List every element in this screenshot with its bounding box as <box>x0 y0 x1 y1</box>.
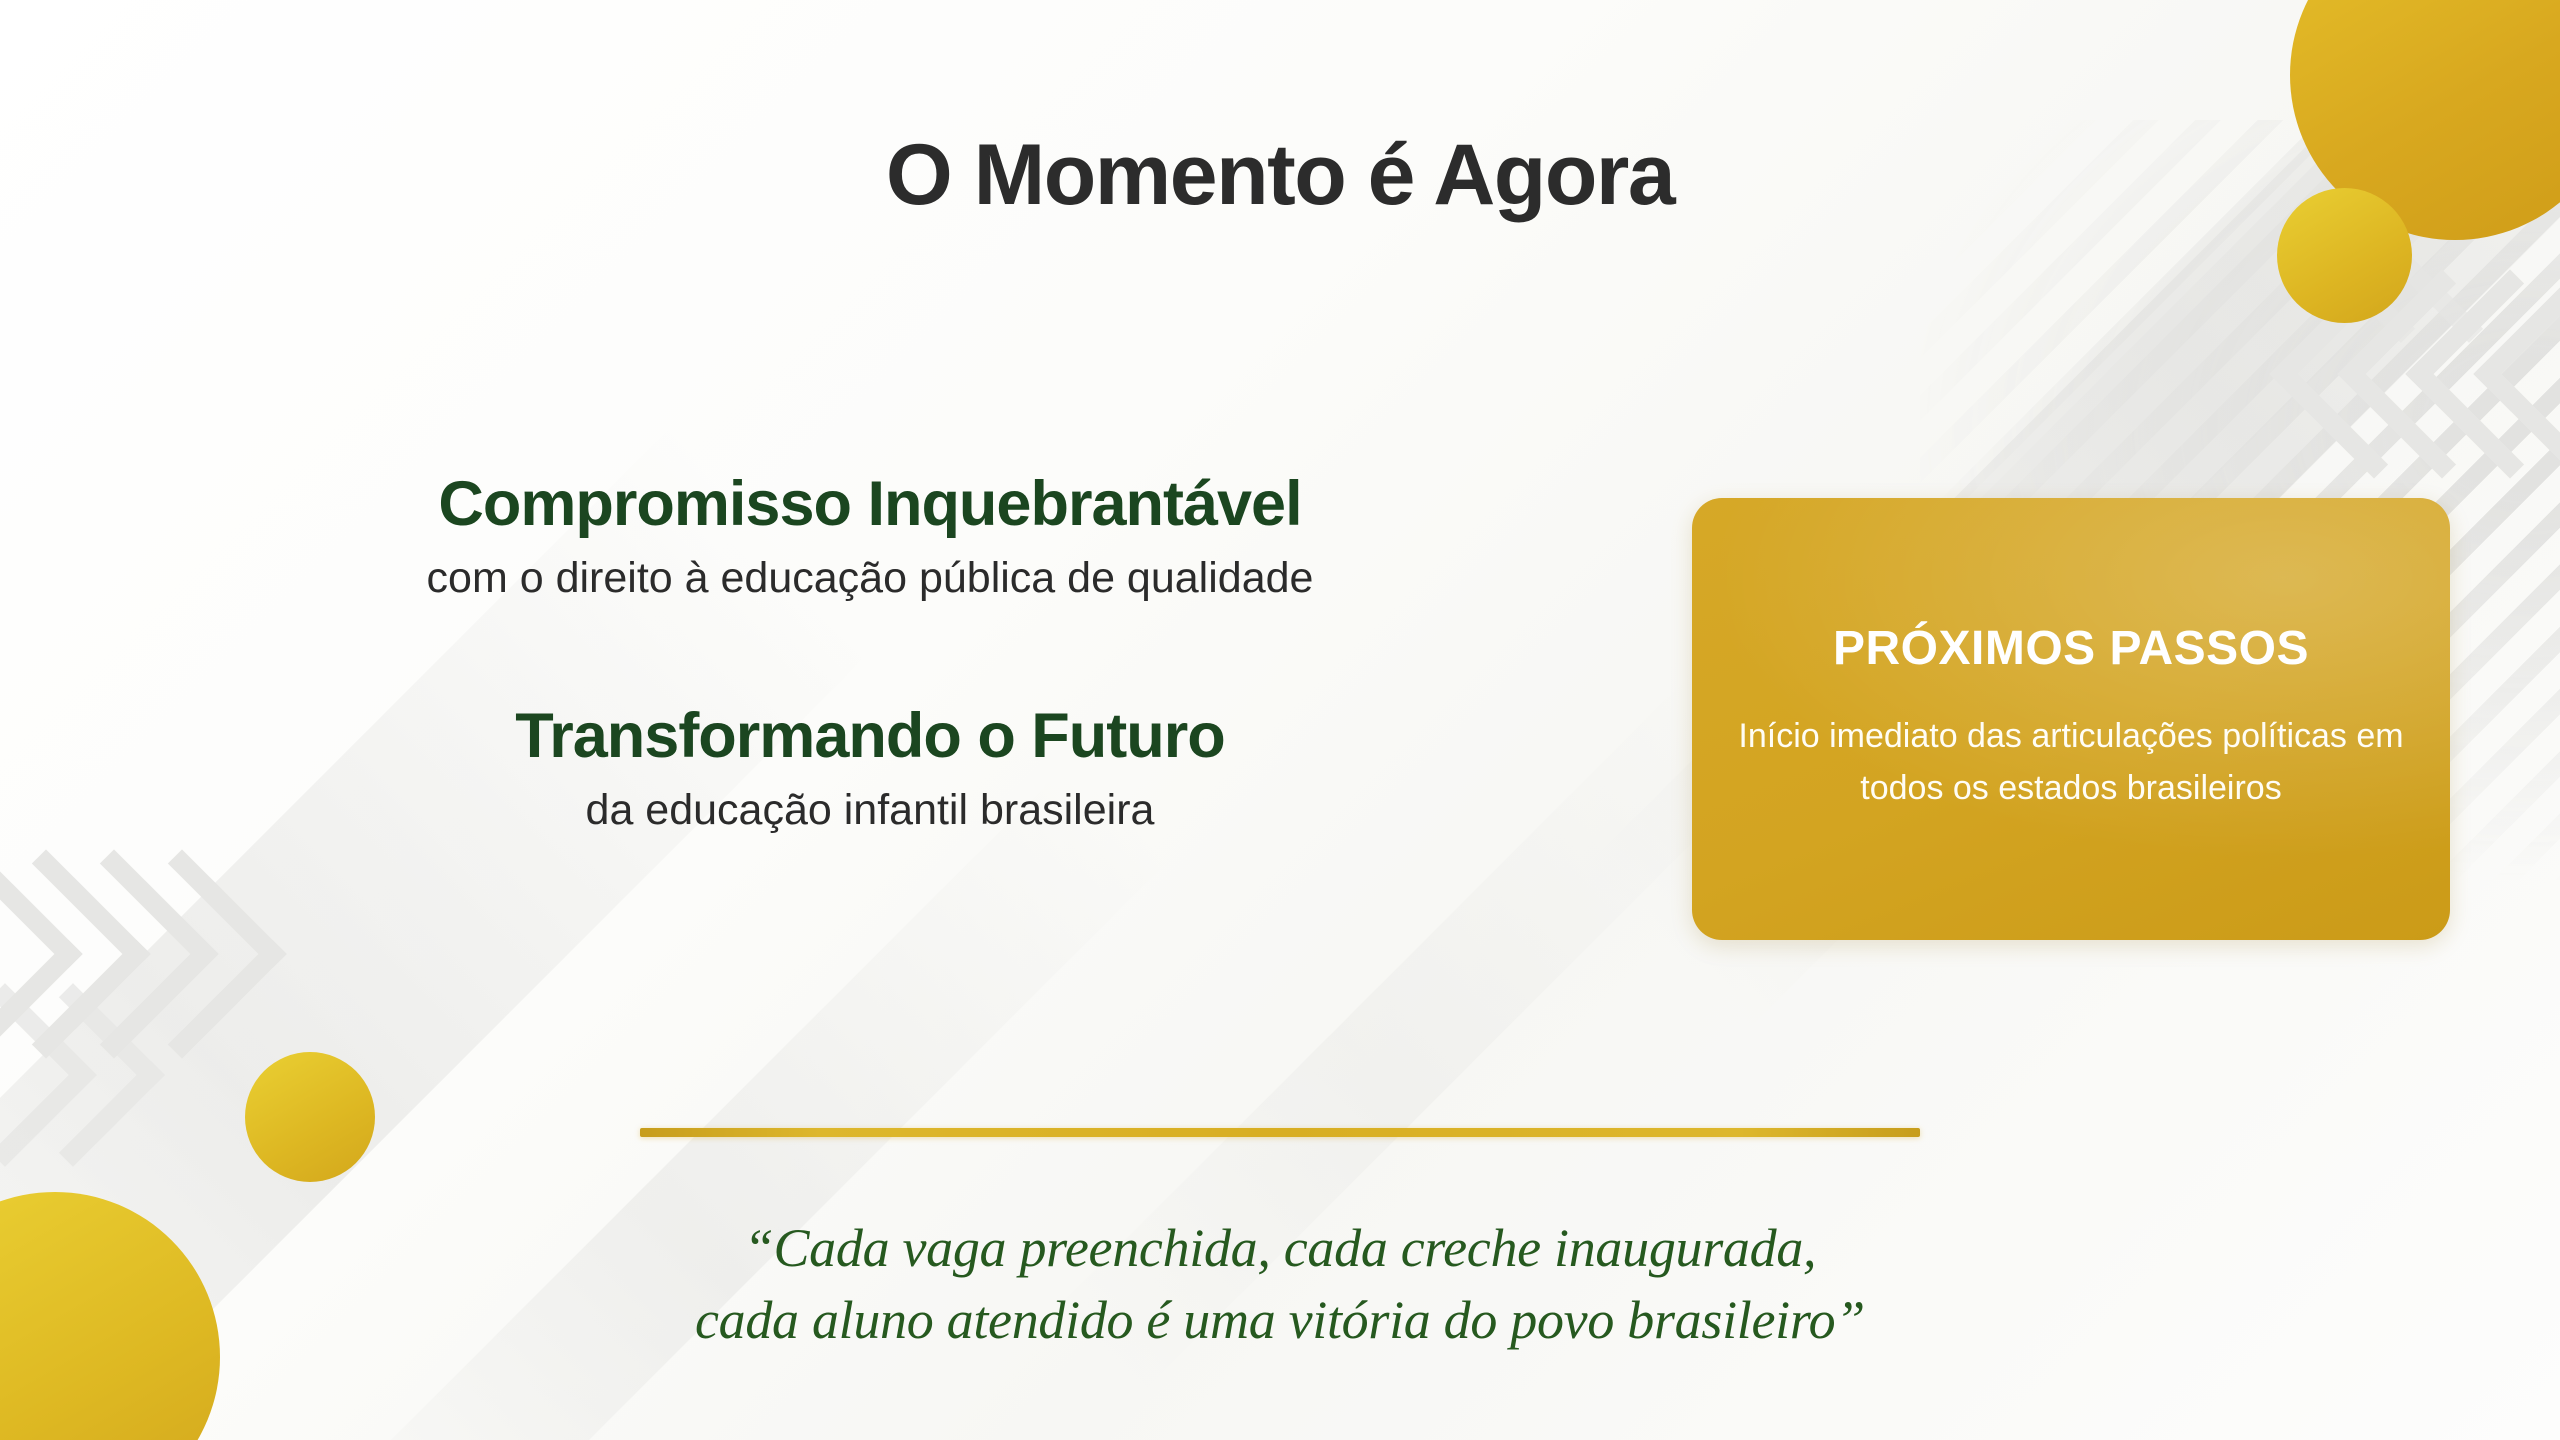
slide-content: O Momento é Agora Compromisso Inquebrant… <box>0 0 2560 1440</box>
quote-line-2: cada aluno atendido é uma vitória do pov… <box>0 1284 2560 1356</box>
closing-quote: “Cada vaga preenchida, cada creche inaug… <box>0 1212 2560 1357</box>
statement-subtext: com o direito à educação pública de qual… <box>120 552 1620 606</box>
next-steps-card: PRÓXIMOS PASSOS Início imediato das arti… <box>1692 498 2450 940</box>
gold-divider <box>640 1128 1920 1137</box>
page-title: O Momento é Agora <box>0 126 2560 225</box>
statement-subtext: da educação infantil brasileira <box>120 784 1620 838</box>
statement-heading: Compromisso Inquebrantável <box>120 470 1620 538</box>
slide-canvas: O Momento é Agora Compromisso Inquebrant… <box>0 0 2560 1440</box>
statement-heading: Transformando o Futuro <box>120 702 1620 770</box>
next-steps-body: Início imediato das articulações polític… <box>1734 710 2408 815</box>
statement-item: Transformando o Futuro da educação infan… <box>120 702 1620 838</box>
statements-block: Compromisso Inquebrantável com o direito… <box>120 470 1620 838</box>
quote-line-1: “Cada vaga preenchida, cada creche inaug… <box>0 1212 2560 1284</box>
statement-item: Compromisso Inquebrantável com o direito… <box>120 470 1620 606</box>
next-steps-title: PRÓXIMOS PASSOS <box>1833 623 2309 676</box>
